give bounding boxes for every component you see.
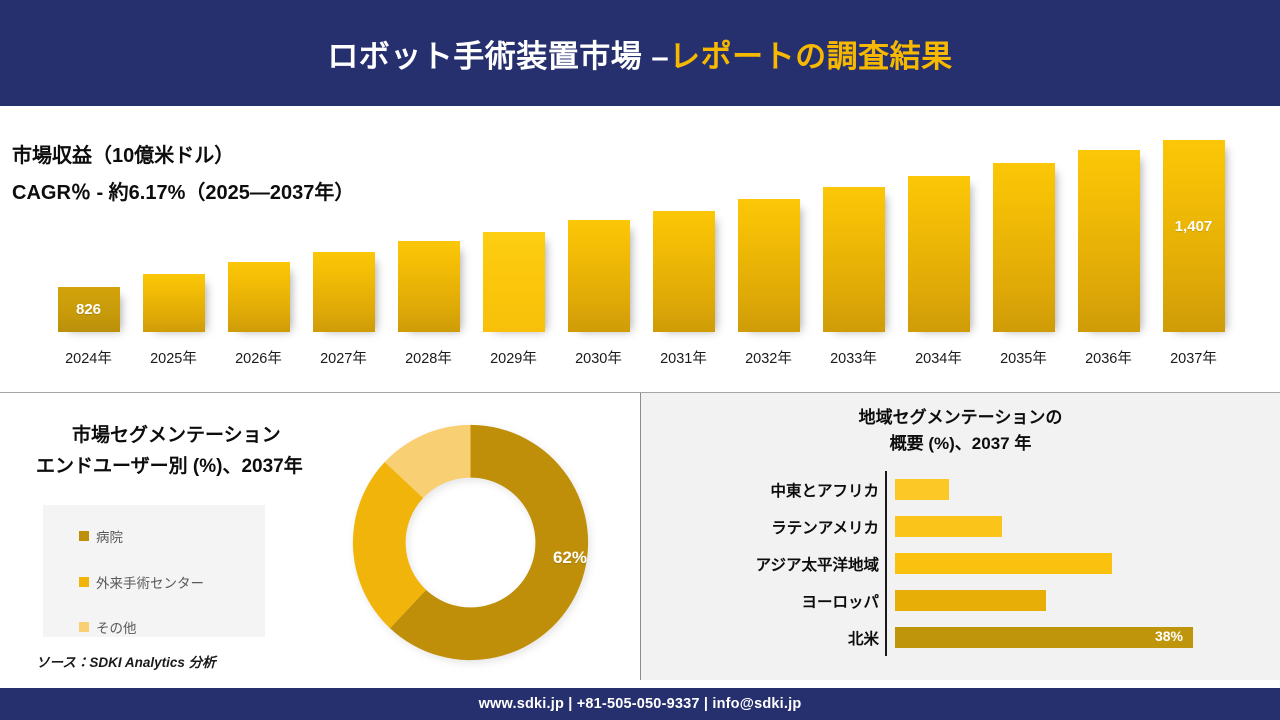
bar-slot — [1066, 132, 1151, 332]
bar-slot — [726, 132, 811, 332]
regional-bar-row: 中東とアフリカ — [641, 471, 1280, 508]
bar-2024年: 826 — [58, 287, 120, 332]
bar-2025年 — [143, 274, 205, 332]
bar-slot — [811, 132, 896, 332]
x-axis-label-2035年: 2035年 — [981, 347, 1066, 368]
legend-item-label: 病院 — [96, 526, 123, 546]
bar-slot: 1,407 — [1151, 132, 1236, 332]
bar-slot — [386, 132, 471, 332]
bar-slot: 826 — [46, 132, 131, 332]
legend-item-0[interactable]: 病院 — [79, 526, 123, 546]
legend-item-2[interactable]: その他 — [79, 617, 137, 637]
x-axis-label-2031年: 2031年 — [641, 347, 726, 368]
bar-2032年 — [738, 199, 800, 332]
footer-contact-text: www.sdki.jp | +81-505-050-9337 | info@sd… — [479, 696, 802, 712]
bar-slot — [556, 132, 641, 332]
regional-bar-chart: 中東とアフリカラテンアメリカアジア太平洋地域ヨーロッパ北米38% — [641, 471, 1280, 656]
x-axis-label-2027年: 2027年 — [301, 347, 386, 368]
page-header: ロボット手術装置市場 –レポートの調査結果 — [0, 0, 1280, 106]
regional-title-line1: 地域セグメンテーションの — [859, 408, 1063, 427]
x-axis-label-2028年: 2028年 — [386, 347, 471, 368]
bar-value-label: 826 — [58, 301, 120, 318]
page-title: ロボット手術装置市場 –レポートの調査結果 — [327, 31, 952, 76]
legend-swatch-icon — [79, 531, 89, 541]
regional-bar-中東とアフリカ — [895, 479, 949, 500]
legend-item-1[interactable]: 外来手術センター — [79, 572, 204, 592]
x-axis-label-2030年: 2030年 — [556, 347, 641, 368]
segmentation-title-line2: エンドユーザー別 (%)、2037年 — [36, 451, 303, 478]
regional-segmentation-section: 地域セグメンテーションの 概要 (%)、2037 年 中東とアフリカラテンアメリ… — [641, 393, 1280, 680]
bar-2026年 — [228, 262, 290, 332]
bar-slot — [981, 132, 1066, 332]
bar-slot — [641, 132, 726, 332]
x-axis-label-2036年: 2036年 — [1066, 347, 1151, 368]
regional-title-line2: 概要 (%)、2037 年 — [890, 434, 1032, 453]
regional-label-中東とアフリカ: 中東とアフリカ — [641, 479, 887, 501]
bar-series: 8261,407 — [46, 132, 1236, 332]
bar-2034年 — [908, 176, 970, 332]
donut-primary-value-label: 62% — [553, 548, 587, 568]
page-footer: www.sdki.jp | +81-505-050-9337 | info@sd… — [0, 688, 1280, 720]
bar-2036年 — [1078, 150, 1140, 332]
legend-swatch-icon — [79, 622, 89, 632]
regional-label-アジア太平洋地域: アジア太平洋地域 — [641, 553, 887, 575]
bar-chart-x-axis-labels: 2024年2025年2026年2027年2028年2029年2030年2031年… — [46, 347, 1236, 368]
legend-item-label: その他 — [96, 617, 137, 637]
bar-2029年 — [483, 232, 545, 332]
x-axis-label-2034年: 2034年 — [896, 347, 981, 368]
page-title-accent: レポートの調査結果 — [669, 39, 953, 74]
regional-bar-value-label: 38% — [1155, 628, 1183, 644]
bar-2033年 — [823, 187, 885, 332]
page-title-main: ロボット手術装置市場 – — [327, 39, 669, 74]
bar-slot — [216, 132, 301, 332]
legend-item-label: 外来手術センター — [96, 572, 204, 592]
regional-label-北米: 北米 — [641, 627, 887, 649]
regional-bar-row: アジア太平洋地域 — [641, 545, 1280, 582]
legend-swatch-icon — [79, 577, 89, 587]
market-revenue-section: 市場収益（10億米ドル） CAGR％ - 約6.17%（2025―2037年） … — [0, 106, 1280, 392]
x-axis-label-2029年: 2029年 — [471, 347, 556, 368]
bar-2030年 — [568, 220, 630, 332]
regional-label-ヨーロッパ: ヨーロッパ — [641, 590, 887, 612]
end-user-donut-chart: 62% — [348, 420, 593, 665]
bar-slot — [301, 132, 386, 332]
bar-2028年 — [398, 241, 460, 332]
bar-2035年 — [993, 163, 1055, 332]
segmentation-title-line1: 市場セグメンテーション — [72, 420, 281, 447]
bar-slot — [131, 132, 216, 332]
regional-bar-row: ヨーロッパ — [641, 582, 1280, 619]
regional-bar-row: ラテンアメリカ — [641, 508, 1280, 545]
regional-bar-ラテンアメリカ — [895, 516, 1002, 537]
x-axis-label-2026年: 2026年 — [216, 347, 301, 368]
x-axis-label-2025年: 2025年 — [131, 347, 216, 368]
x-axis-label-2037年: 2037年 — [1151, 347, 1236, 368]
donut-svg — [348, 420, 593, 665]
donut-legend: 病院外来手術センターその他 — [43, 505, 265, 637]
source-note: ソース：SDKI Analytics 分析 — [36, 651, 216, 671]
x-axis-label-2032年: 2032年 — [726, 347, 811, 368]
regional-label-ラテンアメリカ: ラテンアメリカ — [641, 516, 887, 538]
regional-bar-アジア太平洋地域 — [895, 553, 1112, 574]
bar-2027年 — [313, 252, 375, 332]
end-user-segmentation-section: 市場セグメンテーション エンドユーザー別 (%)、2037年 病院外来手術センタ… — [0, 393, 640, 680]
regional-bar-row: 北米38% — [641, 619, 1280, 656]
bar-slot — [896, 132, 981, 332]
bar-value-label: 1,407 — [1163, 218, 1225, 235]
bar-2037年: 1,407 — [1163, 140, 1225, 332]
market-revenue-bar-chart: 8261,407 2024年2025年2026年2027年2028年2029年2… — [46, 106, 1236, 392]
bar-slot — [471, 132, 556, 332]
infographic-page: ロボット手術装置市場 –レポートの調査結果 市場収益（10億米ドル） CAGR％… — [0, 0, 1280, 720]
x-axis-label-2024年: 2024年 — [46, 347, 131, 368]
x-axis-label-2033年: 2033年 — [811, 347, 896, 368]
regional-bar-ヨーロッパ — [895, 590, 1046, 611]
regional-title: 地域セグメンテーションの 概要 (%)、2037 年 — [641, 405, 1280, 456]
bar-2031年 — [653, 211, 715, 332]
regional-bar-北米: 38% — [895, 627, 1193, 648]
